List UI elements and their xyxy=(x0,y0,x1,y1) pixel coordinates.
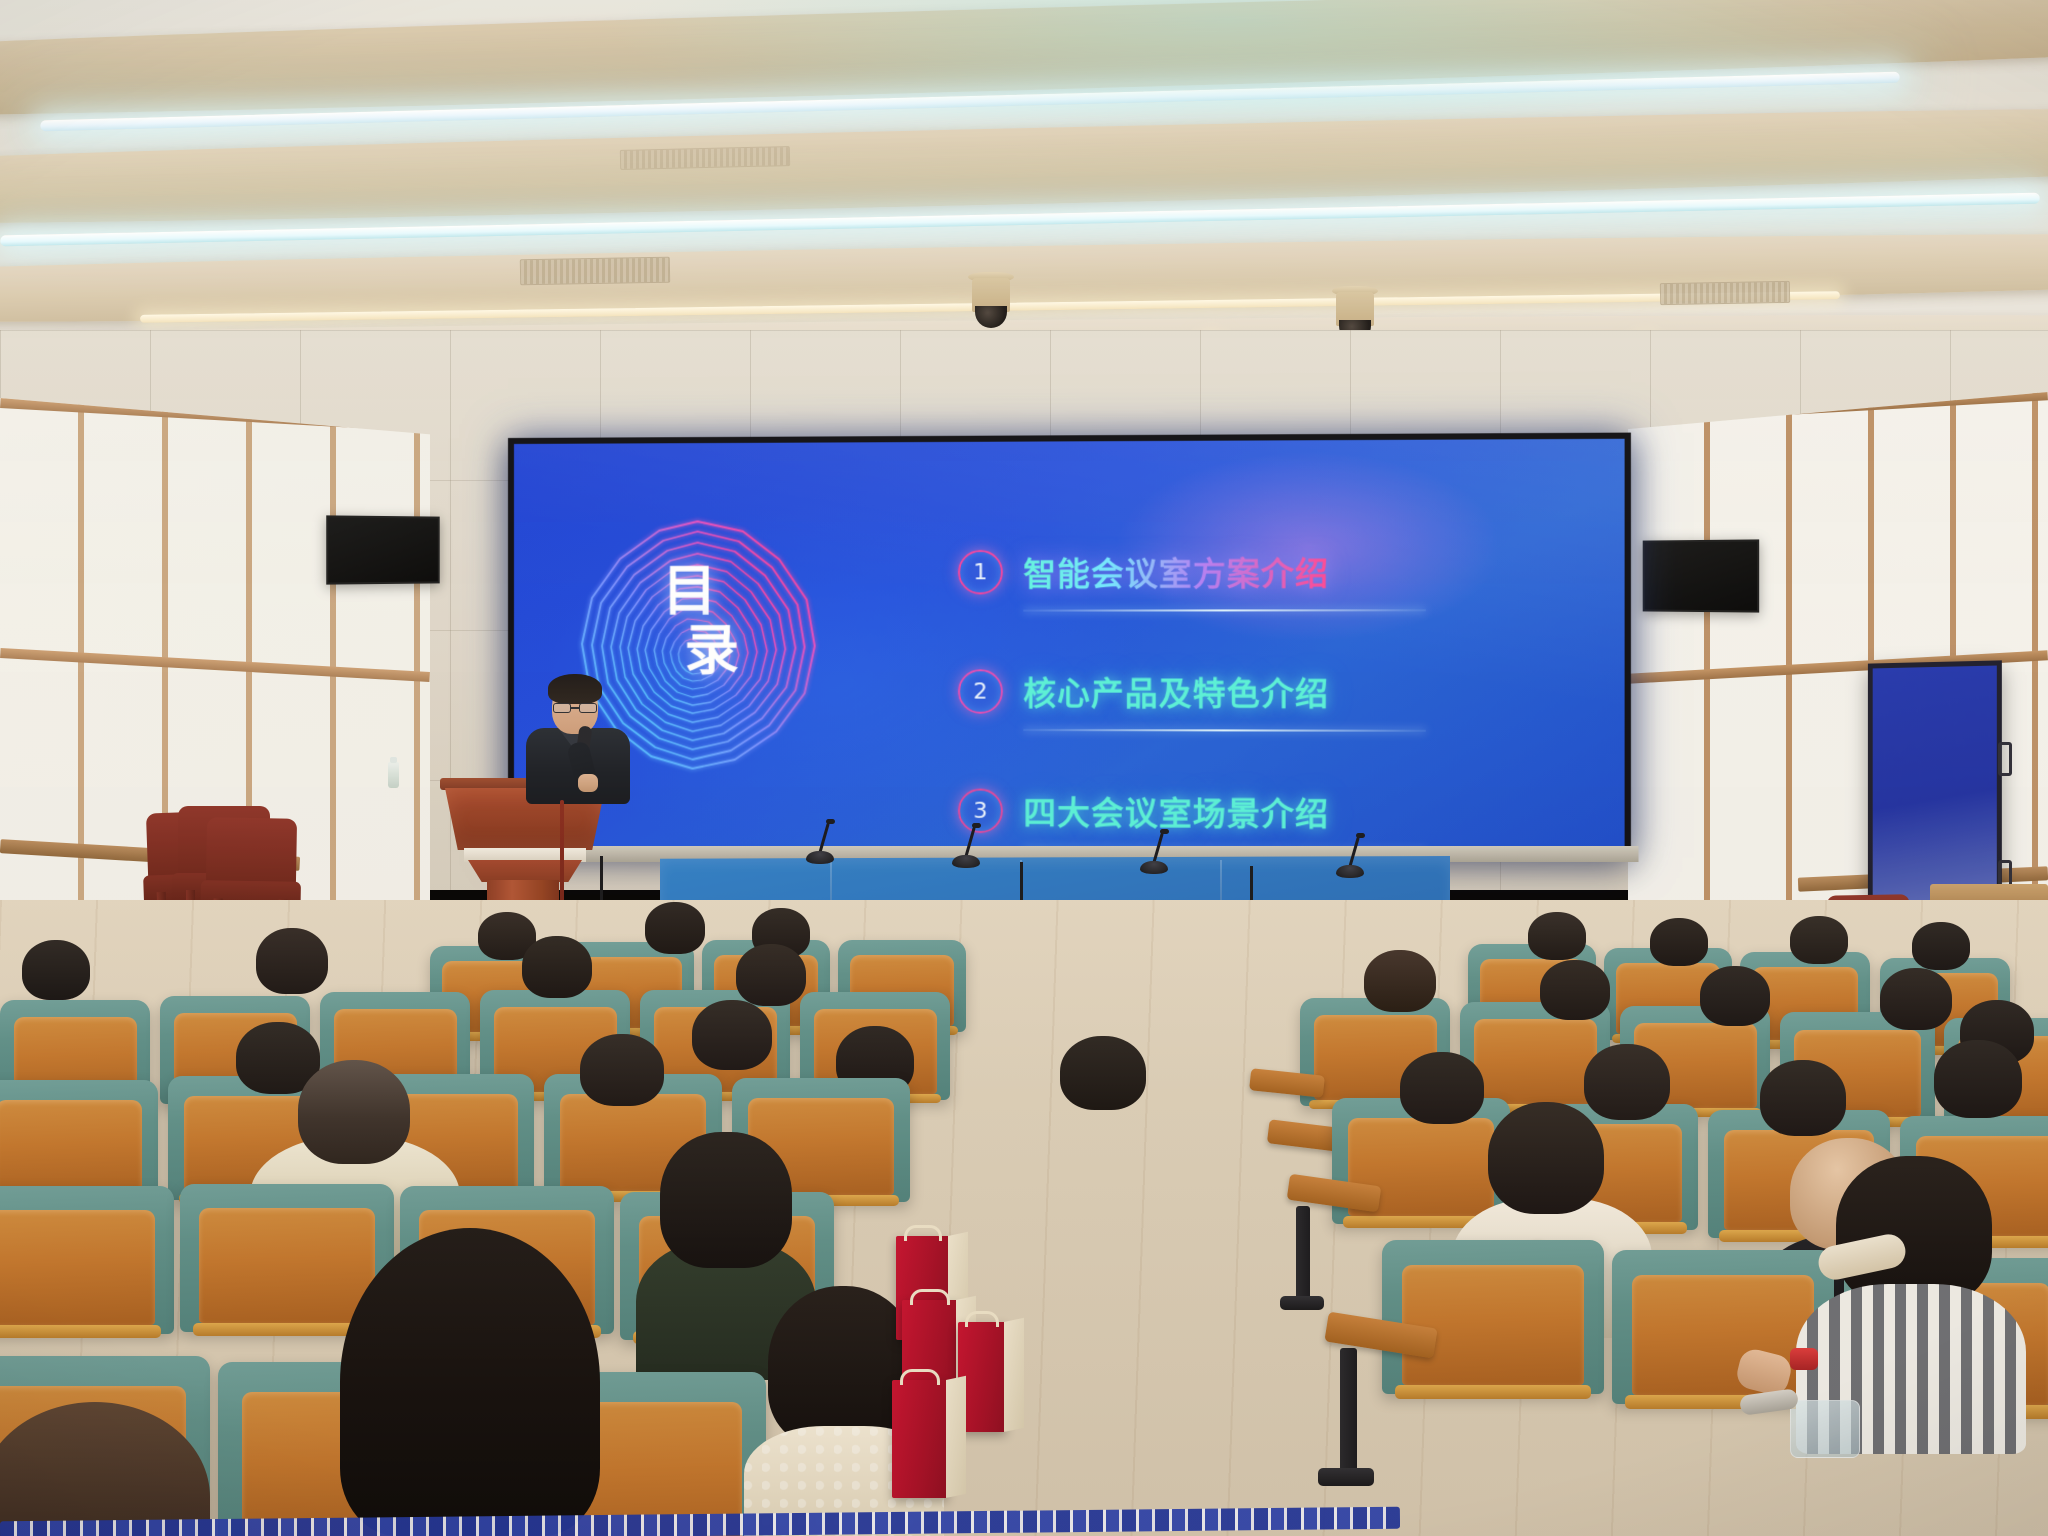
agenda-underline xyxy=(1023,609,1425,611)
agenda-item-2[interactable]: 2 核心产品及特色介绍 xyxy=(958,668,1537,715)
audience-member xyxy=(1060,1036,1146,1110)
audience-member xyxy=(1760,1060,1846,1136)
microphone-icon[interactable] xyxy=(806,820,836,864)
seat-foot xyxy=(1280,1296,1324,1310)
presenter xyxy=(520,672,640,802)
air-vent xyxy=(1660,281,1790,305)
microphone-icon[interactable] xyxy=(952,824,982,868)
audience-member xyxy=(256,928,328,994)
dome-camera-icon xyxy=(968,268,1014,330)
slide-title-char-1: 目 xyxy=(662,564,741,619)
presenter-glasses xyxy=(552,703,598,713)
seat[interactable] xyxy=(0,1186,174,1334)
auditorium-scene: 目 录 1 智能会议室方案介绍 2 核心产品及特色介绍 3 四大会议室场景介绍 xyxy=(0,0,2048,1536)
agenda-underline xyxy=(1023,729,1425,732)
audience-member xyxy=(645,902,705,954)
wall-monitor[interactable] xyxy=(1643,539,1759,612)
audience-member xyxy=(1790,916,1848,964)
audience-member xyxy=(736,944,806,1006)
audience-member xyxy=(580,1034,664,1106)
audience-member xyxy=(22,940,90,1000)
audience-member xyxy=(692,1000,772,1070)
seat-foot xyxy=(1318,1468,1374,1486)
air-vent xyxy=(620,146,790,170)
agenda-label-3: 四大会议室场景介绍 xyxy=(1023,788,1329,836)
audience-member xyxy=(522,936,592,998)
audience-member xyxy=(1364,950,1436,1012)
audience-member xyxy=(1912,922,1970,970)
slide-surface: 目 录 1 智能会议室方案介绍 2 核心产品及特色介绍 3 四大会议室场景介绍 xyxy=(514,439,1625,851)
glass-cup xyxy=(1790,1400,1860,1458)
agenda-label-1: 智能会议室方案介绍 xyxy=(1023,548,1329,595)
agenda-number-2: 2 xyxy=(958,669,1003,714)
slide-title-char-2: 录 xyxy=(684,623,740,678)
audience-member xyxy=(1880,968,1952,1030)
presenter-hand xyxy=(578,774,598,792)
agenda-item-1[interactable]: 1 智能会议室方案介绍 xyxy=(958,548,1537,596)
bottle-icon xyxy=(388,762,399,788)
microphone-icon[interactable] xyxy=(1140,830,1170,874)
audience-member xyxy=(1650,918,1708,966)
agenda-label-2: 核心产品及特色介绍 xyxy=(1023,668,1329,715)
slide-agenda-list: 1 智能会议室方案介绍 2 核心产品及特色介绍 3 四大会议室场景介绍 xyxy=(958,548,1537,852)
seat-leg xyxy=(1340,1348,1357,1478)
microphone-icon[interactable] xyxy=(1336,834,1366,878)
agenda-number-1: 1 xyxy=(958,550,1003,595)
audience-member xyxy=(1934,1040,2022,1118)
led-screen[interactable]: 目 录 1 智能会议室方案介绍 2 核心产品及特色介绍 3 四大会议室场景介绍 xyxy=(508,433,1631,858)
audience-member xyxy=(1540,960,1610,1020)
agenda-item-3[interactable]: 3 四大会议室场景介绍 xyxy=(958,787,1537,836)
portable-display-panel[interactable] xyxy=(1868,660,2002,911)
seat[interactable] xyxy=(1382,1240,1604,1394)
red-object xyxy=(1790,1348,1818,1370)
audience-member xyxy=(1528,912,1586,960)
audience-member xyxy=(0,1402,210,1536)
gift-bag[interactable] xyxy=(892,1380,948,1498)
slide-title: 目 录 xyxy=(662,564,741,679)
audience-member xyxy=(1700,966,1770,1026)
seat-leg xyxy=(1296,1206,1310,1300)
panel-hinge xyxy=(1998,742,2012,776)
audience-member xyxy=(340,1228,600,1536)
wall-monitor[interactable] xyxy=(326,515,439,584)
air-vent xyxy=(520,257,670,286)
presenter-hair xyxy=(548,674,602,704)
